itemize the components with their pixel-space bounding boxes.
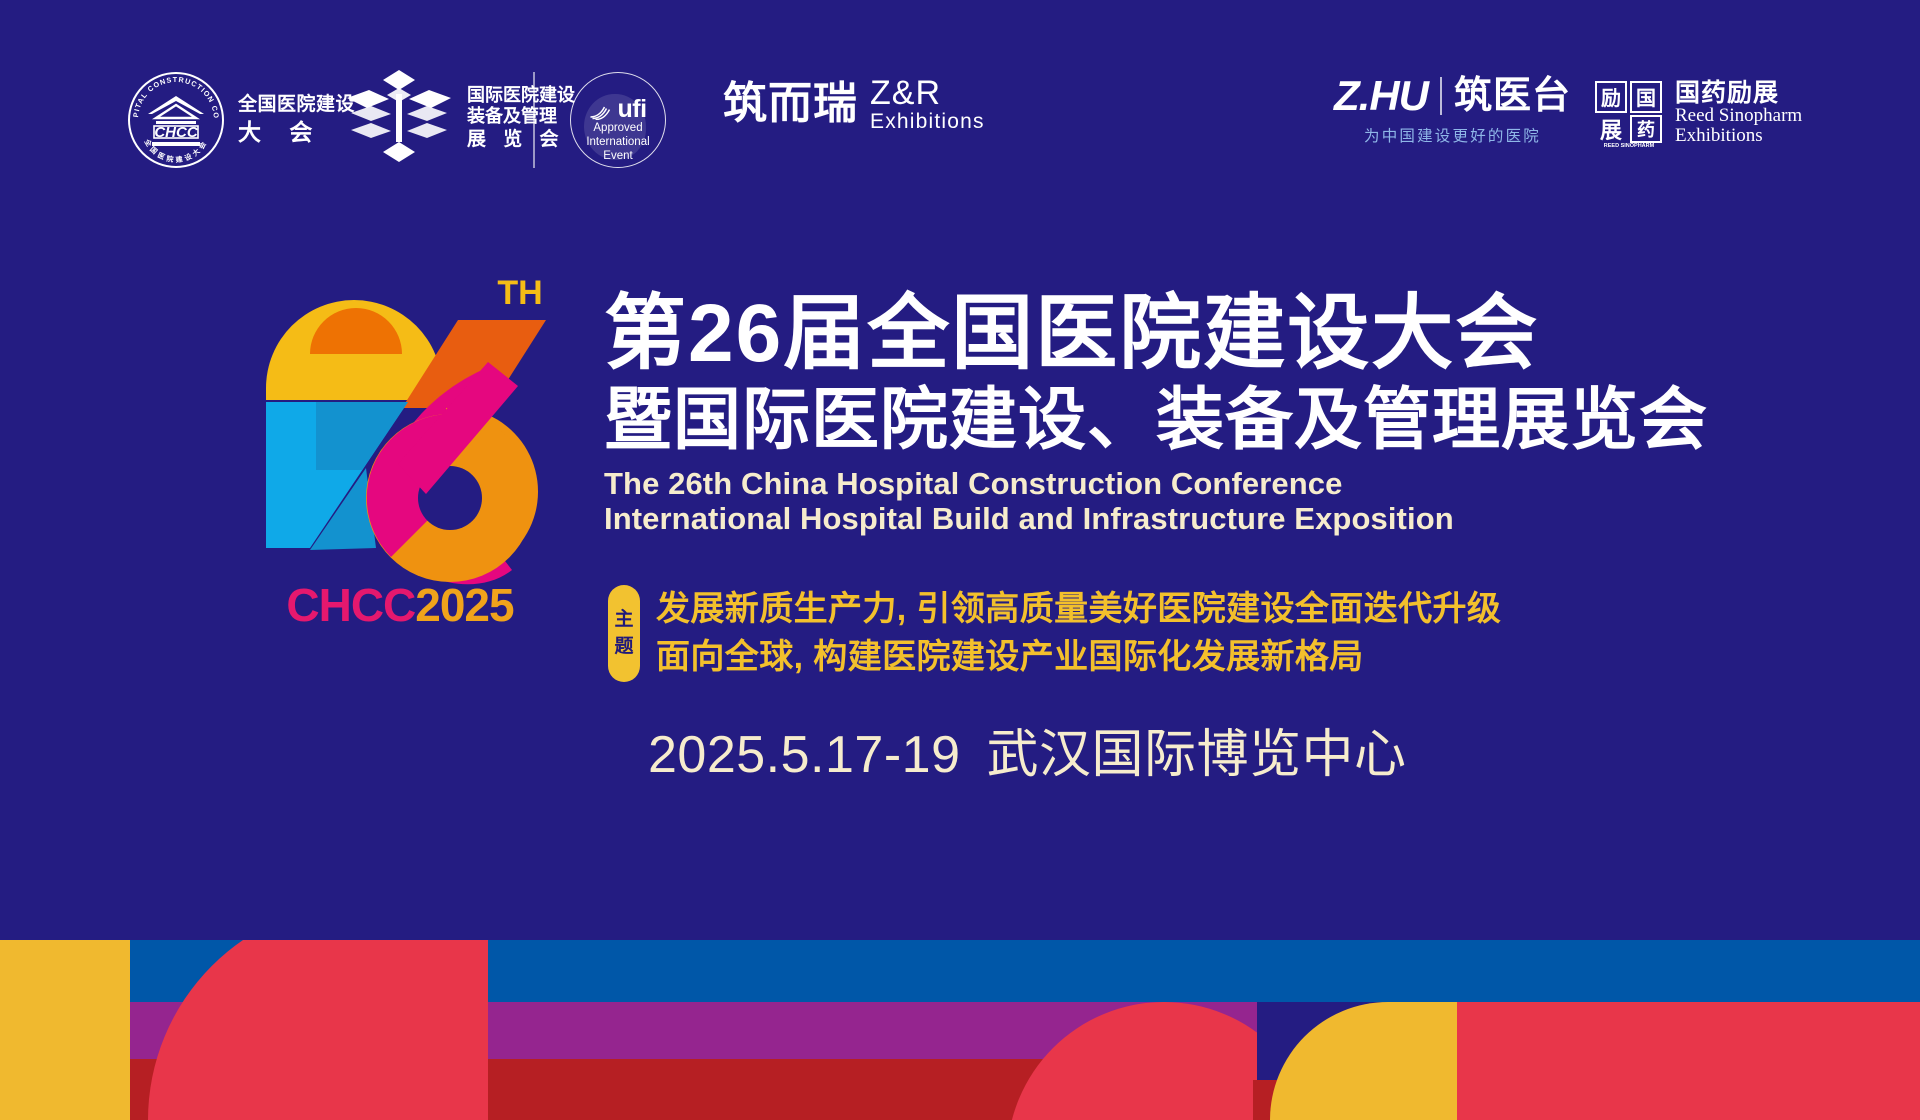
title-chinese-line1: 第26届全国医院建设大会 <box>604 292 1874 376</box>
logo-exhibition: 国际医院建设 装备及管理 展 览 会 <box>345 68 575 168</box>
chcc-26-emblem-icon: TH <box>250 258 550 618</box>
title-block: 第26届全国医院建设大会 暨国际医院建设、装备及管理展览会 The 26th C… <box>604 292 1874 536</box>
theme-block: 主 题 发展新质生产力, 引领高质量美好医院建设全面迭代升级 面向全球, 构建医… <box>608 585 1501 682</box>
theme-lines: 发展新质生产力, 引领高质量美好医院建设全面迭代升级 面向全球, 构建医院建设产… <box>656 585 1501 682</box>
reed-chinese-name: 国药励展 <box>1675 80 1802 106</box>
decorative-band-strip <box>0 940 1920 1120</box>
svg-text:展: 展 <box>1600 118 1622 143</box>
zhu-chinese-name: 筑医台 <box>1454 77 1571 115</box>
theme-badge-char1: 主 <box>614 606 633 634</box>
emblem-wordmark-letters: CHCC <box>286 579 415 631</box>
zr-chinese-name: 筑而瑞 <box>723 82 858 126</box>
event-venue: 武汉国际博览中心 <box>987 726 1407 784</box>
zhu-english-mark: Z.HU <box>1334 75 1428 117</box>
svg-text:国: 国 <box>1636 88 1656 110</box>
theme-line1: 发展新质生产力, 引领高质量美好医院建设全面迭代升级 <box>656 585 1501 633</box>
chcc-label-line2: 大 会 <box>238 120 355 146</box>
zr-english-line1: Z&R <box>870 76 985 111</box>
zhu-row: Z.HU 筑医台 <box>1334 75 1571 117</box>
event-dateline: 2025.5.17-19武汉国际博览中心 <box>648 712 1407 787</box>
reed-english-line2: Exhibitions <box>1675 126 1802 146</box>
logo-reed-sinopharm: 励 国 展 药 REED SINOPHARM 国药励展 Reed Sinopha… <box>1594 78 1802 148</box>
logo-zhu-yitai: Z.HU 筑医台 为中国建设更好的医院 <box>1334 75 1571 146</box>
logo-divider <box>533 72 535 168</box>
event-date: 2025.5.17-19 <box>648 726 961 784</box>
ufi-swoosh-icon <box>589 104 615 120</box>
zr-english-line2: Exhibitions <box>870 111 985 132</box>
svg-text:CHINA HOSPITAL CONSTRUCTION CO: CHINA HOSPITAL CONSTRUCTION CONFERENCE <box>128 72 221 120</box>
theme-line2: 面向全球, 构建医院建设产业国际化发展新格局 <box>656 633 1501 681</box>
ufi-word-text: ufi <box>617 99 646 120</box>
emblem-wordmark-year: 2025 <box>415 579 513 631</box>
logo-zr-exhibitions: 筑而瑞 Z&R Exhibitions <box>723 76 985 132</box>
chcc-seal-icon: CHCC CHINA HOSPITAL CONSTRUCTION CONFERE… <box>128 72 224 168</box>
chcc-label: 全国医院建设 大 会 <box>238 94 355 145</box>
ufi-wordmark: ufi <box>589 99 646 120</box>
title-english-line2: International Hospital Build and Infrast… <box>604 501 1874 536</box>
chcc-label-line1: 全国医院建设 <box>238 94 355 115</box>
emblem-ordinal: TH <box>497 274 542 312</box>
logo-bar: CHCC CHINA HOSPITAL CONSTRUCTION CONFERE… <box>0 0 1920 190</box>
ufi-sub-line3: Event <box>570 149 666 163</box>
ufi-sub-line2: International <box>570 135 666 149</box>
emblem-wordmark: CHCC2025 <box>250 578 550 632</box>
svg-text:全国医院建设大会: 全国医院建设大会 <box>142 137 209 165</box>
exhibition-label-line1: 国际医院建设 <box>467 85 575 106</box>
title-english-line1: The 26th China Hospital Construction Con… <box>604 466 1874 501</box>
decorative-quarter-yellow-left <box>0 940 130 1120</box>
svg-text:药: 药 <box>1637 119 1655 140</box>
zhu-slogan: 为中国建设更好的医院 <box>1334 124 1571 146</box>
ufi-sub-line1: Approved <box>570 121 666 135</box>
zhu-divider <box>1440 77 1442 115</box>
reed-english-line1: Reed Sinopharm <box>1675 106 1802 126</box>
logo-ufi: ufi Approved International Event <box>570 72 666 168</box>
exhibition-label-line2: 装备及管理 <box>467 106 575 127</box>
exhibition-mark-icon <box>345 68 453 168</box>
zr-english-name: Z&R Exhibitions <box>870 76 985 132</box>
poster-canvas: CHCC CHINA HOSPITAL CONSTRUCTION CONFERE… <box>0 0 1920 1120</box>
theme-badge-char2: 题 <box>614 633 633 661</box>
svg-text:励: 励 <box>1601 87 1621 110</box>
theme-badge: 主 题 <box>608 585 640 682</box>
ufi-subtext: Approved International Event <box>570 121 666 163</box>
svg-text:REED SINOPHARM: REED SINOPHARM <box>1604 143 1655 148</box>
chcc-ring-text: CHINA HOSPITAL CONSTRUCTION CONFERENCE 全… <box>128 72 224 168</box>
reed-sinopharm-seal-icon: 励 国 展 药 REED SINOPHARM <box>1594 78 1664 148</box>
title-chinese-line2: 暨国际医院建设、装备及管理展览会 <box>604 384 1874 456</box>
exhibition-label: 国际医院建设 装备及管理 展 览 会 <box>467 85 575 152</box>
exhibition-label-line3: 展 览 会 <box>467 129 575 151</box>
logo-chcc: CHCC CHINA HOSPITAL CONSTRUCTION CONFERE… <box>128 72 355 168</box>
reed-text-block: 国药励展 Reed Sinopharm Exhibitions <box>1675 80 1802 146</box>
